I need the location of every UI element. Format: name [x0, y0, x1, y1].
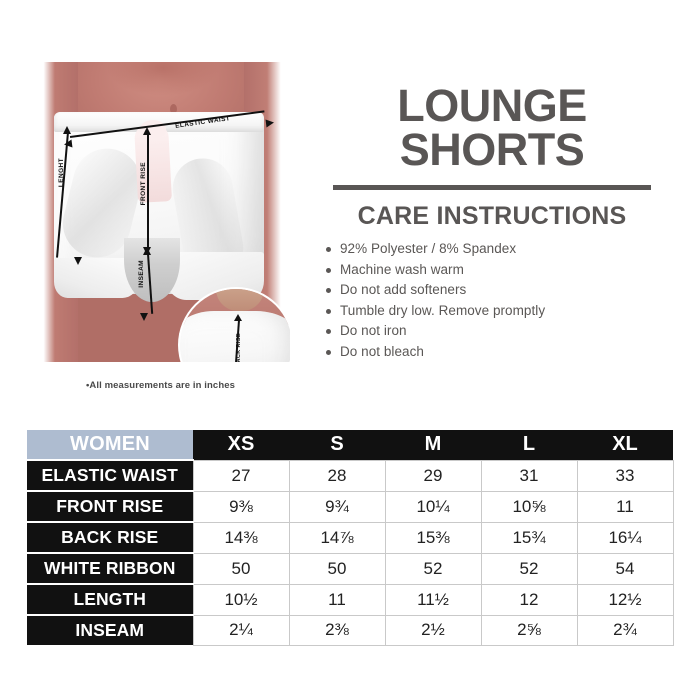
row-label-inseam: INSEAM [27, 615, 193, 645]
cell-back-rise-xs: 14⅜ [193, 522, 289, 553]
cell-back-rise-xl: 16¼ [577, 522, 673, 553]
table-row: WHITE RIBBON 50 50 52 52 54 [27, 553, 673, 584]
cell-back-rise-l: 15¾ [481, 522, 577, 553]
row-label-elastic-waist: ELASTIC WAIST [27, 460, 193, 491]
table-row: INSEAM 2¼ 2⅜ 2½ 2⅝ 2¾ [27, 615, 673, 645]
back-view-inset: BACK RISE [180, 289, 290, 362]
table-header-s: S [289, 430, 385, 460]
product-diagram: ELASTIC WAIST LENGHT FRONT RISE INS [28, 62, 290, 372]
size-chart-body: ELASTIC WAIST 27 28 29 31 33 FRONT RISE … [27, 460, 673, 645]
table-row: FRONT RISE 9⅜ 9¾ 10¼ 10⅝ 11 [27, 491, 673, 522]
measurement-label-front-rise: FRONT RISE [140, 162, 147, 205]
cell-elastic-waist-s: 28 [289, 460, 385, 491]
product-photo: ELASTIC WAIST LENGHT FRONT RISE INS [28, 62, 290, 362]
cell-length-l: 12 [481, 584, 577, 615]
cell-length-s: 11 [289, 584, 385, 615]
cell-inseam-xl: 2¾ [577, 615, 673, 645]
size-chart: WOMEN XS S M L XL ELASTIC WAIST 27 28 29… [27, 430, 673, 646]
cell-back-rise-s: 14⅞ [289, 522, 385, 553]
table-header-xs: XS [193, 430, 289, 460]
list-item: Machine wash warm [324, 262, 672, 277]
product-info-panel: LOUNGE SHORTS CARE INSTRUCTIONS 92% Poly… [312, 84, 672, 364]
cell-inseam-s: 2⅜ [289, 615, 385, 645]
cell-front-rise-s: 9¾ [289, 491, 385, 522]
table-row: ELASTIC WAIST 27 28 29 31 33 [27, 460, 673, 491]
measurement-label-inseam: INSEAM [138, 260, 145, 288]
care-instructions-heading: CARE INSTRUCTIONS [312, 202, 672, 231]
row-label-white-ribbon: WHITE RIBBON [27, 553, 193, 584]
cell-length-xs: 10½ [193, 584, 289, 615]
size-chart-table: WOMEN XS S M L XL ELASTIC WAIST 27 28 29… [27, 430, 674, 646]
cell-front-rise-xs: 9⅜ [193, 491, 289, 522]
measurement-label-back-rise: BACK RISE [236, 333, 242, 362]
cell-back-rise-m: 15⅜ [385, 522, 481, 553]
page-title: LOUNGE SHORTS [312, 84, 672, 171]
cell-front-rise-xl: 11 [577, 491, 673, 522]
cell-elastic-waist-xs: 27 [193, 460, 289, 491]
length-arrow-icon [56, 128, 78, 262]
cell-inseam-l: 2⅝ [481, 615, 577, 645]
measurement-label-length: LENGHT [58, 158, 65, 187]
cell-elastic-waist-m: 29 [385, 460, 481, 491]
table-header-l: L [481, 430, 577, 460]
table-header-row: WOMEN XS S M L XL [27, 430, 673, 460]
cell-front-rise-m: 10¼ [385, 491, 481, 522]
product-title-line2: SHORTS [400, 124, 585, 175]
list-item: Do not bleach [324, 344, 672, 359]
row-label-length: LENGTH [27, 584, 193, 615]
list-item: 92% Polyester / 8% Spandex [324, 241, 672, 256]
cell-white-ribbon-xs: 50 [193, 553, 289, 584]
cell-white-ribbon-m: 52 [385, 553, 481, 584]
cell-white-ribbon-s: 50 [289, 553, 385, 584]
table-row: LENGTH 10½ 11 11½ 12 12½ [27, 584, 673, 615]
list-item: Do not add softeners [324, 282, 672, 297]
list-item: Tumble dry low. Remove promptly [324, 303, 672, 318]
cell-inseam-xs: 2¼ [193, 615, 289, 645]
elastic-waist-arrow-icon [64, 122, 272, 148]
cell-inseam-m: 2½ [385, 615, 481, 645]
table-header-m: M [385, 430, 481, 460]
row-label-front-rise: FRONT RISE [27, 491, 193, 522]
cell-elastic-waist-l: 31 [481, 460, 577, 491]
title-divider [333, 185, 651, 190]
row-label-back-rise: BACK RISE [27, 522, 193, 553]
measurement-units-note: •All measurements are in inches [86, 380, 235, 391]
cell-length-xl: 12½ [577, 584, 673, 615]
cell-elastic-waist-xl: 33 [577, 460, 673, 491]
top-section: ELASTIC WAIST LENGHT FRONT RISE INS [0, 0, 700, 412]
cell-white-ribbon-xl: 54 [577, 553, 673, 584]
list-item: Do not iron [324, 323, 672, 338]
cell-white-ribbon-l: 52 [481, 553, 577, 584]
table-header-women: WOMEN [27, 430, 193, 460]
table-header-xl: XL [577, 430, 673, 460]
cell-length-m: 11½ [385, 584, 481, 615]
table-row: BACK RISE 14⅜ 14⅞ 15⅜ 15¾ 16¼ [27, 522, 673, 553]
cell-front-rise-l: 10⅝ [481, 491, 577, 522]
care-instructions-list: 92% Polyester / 8% Spandex Machine wash … [312, 241, 672, 359]
